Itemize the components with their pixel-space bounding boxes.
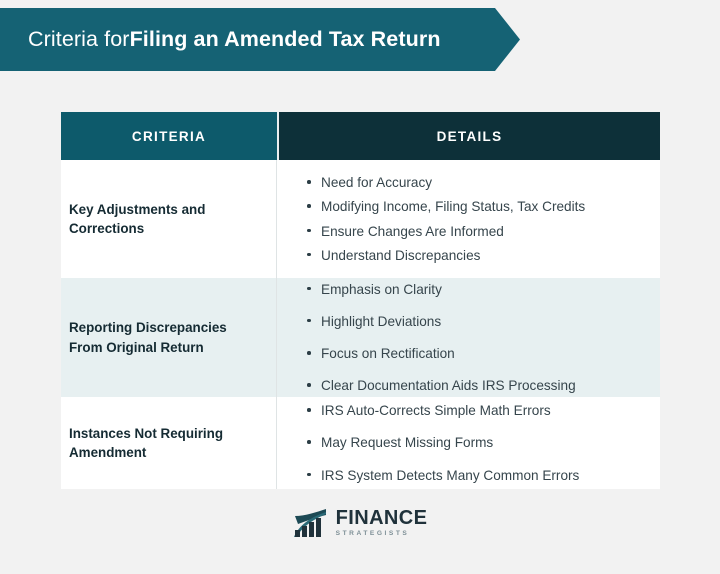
list-item: IRS Auto-Corrects Simple Math Errors [307,400,645,421]
criteria-label: Key Adjustments and Corrections [69,200,258,238]
cell-criteria: Instances Not Requiring Amendment [61,397,277,489]
table-header-row: CRITERIA DETAILS [61,112,660,160]
table-row: Instances Not Requiring Amendment IRS Au… [61,397,660,489]
list-item: IRS System Detects Many Common Errors [307,465,645,486]
list-item: Understand Discrepancies [307,245,645,266]
logo-wordmark: FINANCE STRATEGISTS [336,508,428,538]
footer: FINANCE STRATEGISTS [0,508,720,538]
criteria-label: Instances Not Requiring Amendment [69,424,258,462]
list-item: Modifying Income, Filing Status, Tax Cre… [307,196,645,217]
column-header-details: DETAILS [279,112,660,160]
brand-logo: FINANCE STRATEGISTS [293,508,428,538]
cell-details: IRS Auto-Corrects Simple Math Errors May… [277,397,659,489]
list-item: Emphasis on Clarity [307,279,645,300]
list-item: Ensure Changes Are Informed [307,221,645,242]
list-item: Highlight Deviations [307,311,645,332]
table-row: Reporting Discrepancies From Original Re… [61,278,660,397]
cell-details: Need for Accuracy Modifying Income, Fili… [277,160,659,278]
page-title-bold: Filing an Amended Tax Return [130,27,441,52]
cell-criteria: Key Adjustments and Corrections [61,160,277,278]
list-item: May Request Missing Forms [307,432,645,453]
criteria-table: CRITERIA DETAILS Key Adjustments and Cor… [61,112,660,489]
details-list: IRS Auto-Corrects Simple Math Errors May… [307,400,645,485]
header-banner: Criteria for Filing an Amended Tax Retur… [0,8,520,71]
cell-criteria: Reporting Discrepancies From Original Re… [61,278,277,397]
cell-details: Emphasis on Clarity Highlight Deviations… [277,278,659,397]
logo-primary-text: FINANCE [336,508,428,528]
logo-secondary-text: STRATEGISTS [336,531,428,538]
table-row: Key Adjustments and Corrections Need for… [61,160,660,278]
list-item: Clear Documentation Aids IRS Processing [307,375,645,396]
details-list: Emphasis on Clarity Highlight Deviations… [307,279,645,396]
page-title: Criteria for Filing an Amended Tax Retur… [28,8,441,71]
column-header-criteria: CRITERIA [61,112,279,160]
page-title-light: Criteria for [28,27,130,52]
criteria-label: Reporting Discrepancies From Original Re… [69,318,258,356]
details-list: Need for Accuracy Modifying Income, Fili… [307,172,645,265]
list-item: Focus on Rectification [307,343,645,364]
finance-strategists-mark-icon [293,508,329,538]
list-item: Need for Accuracy [307,172,645,193]
